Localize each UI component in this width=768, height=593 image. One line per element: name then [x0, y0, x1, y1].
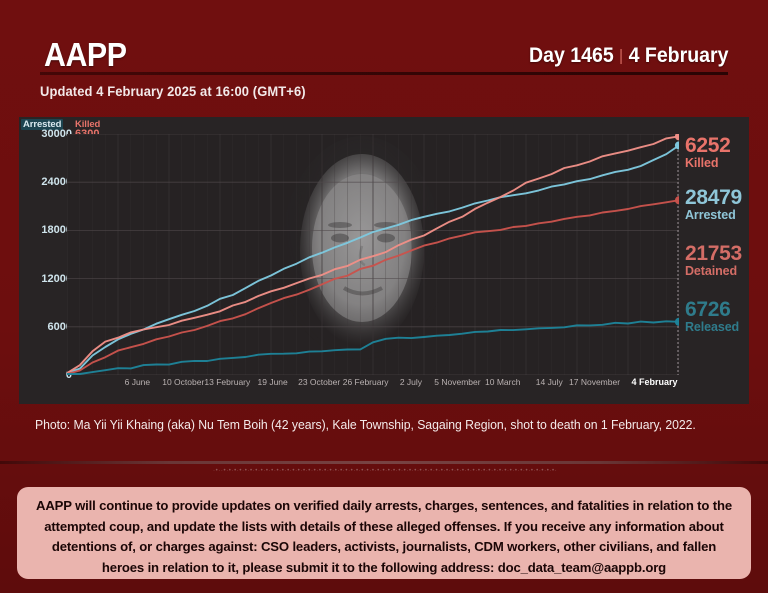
x-tick-label: 26 February: [343, 377, 389, 387]
x-tick-label: 2 July: [400, 377, 422, 387]
stat-arrested-value: 28479: [685, 187, 749, 208]
x-tick-label: 19 June: [258, 377, 288, 387]
y-tick-arrested: 18000: [19, 224, 72, 236]
x-tick-label: 13 February: [204, 377, 250, 387]
poster-root: AAPP Day 1465 4 February Updated 4 Febru…: [0, 0, 768, 593]
chart-lines: [67, 134, 679, 375]
y-tick-arrested: 0: [19, 369, 72, 381]
stat-arrested: 28479 Arrested: [685, 187, 749, 222]
statistics-column: 6252 Killed 28479 Arrested 21753 Detaine…: [685, 135, 749, 395]
aapp-logo: AAPP: [44, 36, 127, 74]
stat-detained-label: Detained: [685, 264, 749, 278]
y-tick-arrested: 30000: [19, 128, 72, 140]
stat-arrested-label: Arrested: [685, 208, 749, 222]
day-date: 4 February: [628, 44, 728, 68]
updated-timestamp: Updated 4 February 2025 at 16:00 (GMT+6): [40, 84, 306, 99]
x-tick-label: 17 November: [569, 377, 620, 387]
header: AAPP Day 1465 4 February Updated 4 Febru…: [0, 0, 768, 112]
y-tick-arrested: 24000: [19, 176, 72, 188]
stat-detained: 21753 Detained: [685, 243, 749, 278]
stat-released-value: 6726: [685, 299, 749, 320]
plot-area: [67, 134, 679, 375]
y-tick-arrested: 12000: [19, 273, 72, 285]
photo-caption: Photo: Ma Yii Yii Khaing (aka) Nu Tem Bo…: [35, 418, 696, 432]
day-counter: Day 1465 4 February: [529, 44, 728, 68]
caption-divider: [0, 461, 768, 464]
stat-released: 6726 Released: [685, 299, 749, 334]
x-tick-label: 23 October: [298, 377, 340, 387]
day-number: Day 1465: [529, 44, 614, 68]
stat-detained-value: 21753: [685, 243, 749, 264]
stat-killed: 6252 Killed: [685, 135, 749, 170]
x-tick-label: 14 July: [536, 377, 563, 387]
x-tick-label: 6 June: [125, 377, 151, 387]
stat-released-label: Released: [685, 320, 749, 334]
stat-killed-label: Killed: [685, 156, 749, 170]
x-tick-label: 10 March: [485, 377, 520, 387]
x-tick-label: 5 November: [434, 377, 480, 387]
stat-killed-value: 6252: [685, 135, 749, 156]
x-axis-labels: 6 June10 October13 February19 June23 Oct…: [67, 375, 749, 397]
y-tick-arrested: 6000: [19, 321, 72, 333]
x-tick-label: 4 February: [632, 377, 678, 387]
chart-panel: Arrested Killed 060001300120002500180003…: [19, 117, 749, 404]
footer-text: AAPP will continue to provide updates on…: [33, 496, 735, 578]
x-tick-label: 10 October: [162, 377, 204, 387]
header-divider: [40, 72, 728, 75]
decorative-dotted-line: ·•··•·•·•·•·•·•·•·•·•·•·•·•·•·•·•·•·•·•·…: [213, 468, 557, 474]
day-separator-icon: [620, 49, 622, 64]
footer-notice: AAPP will continue to provide updates on…: [17, 487, 751, 579]
